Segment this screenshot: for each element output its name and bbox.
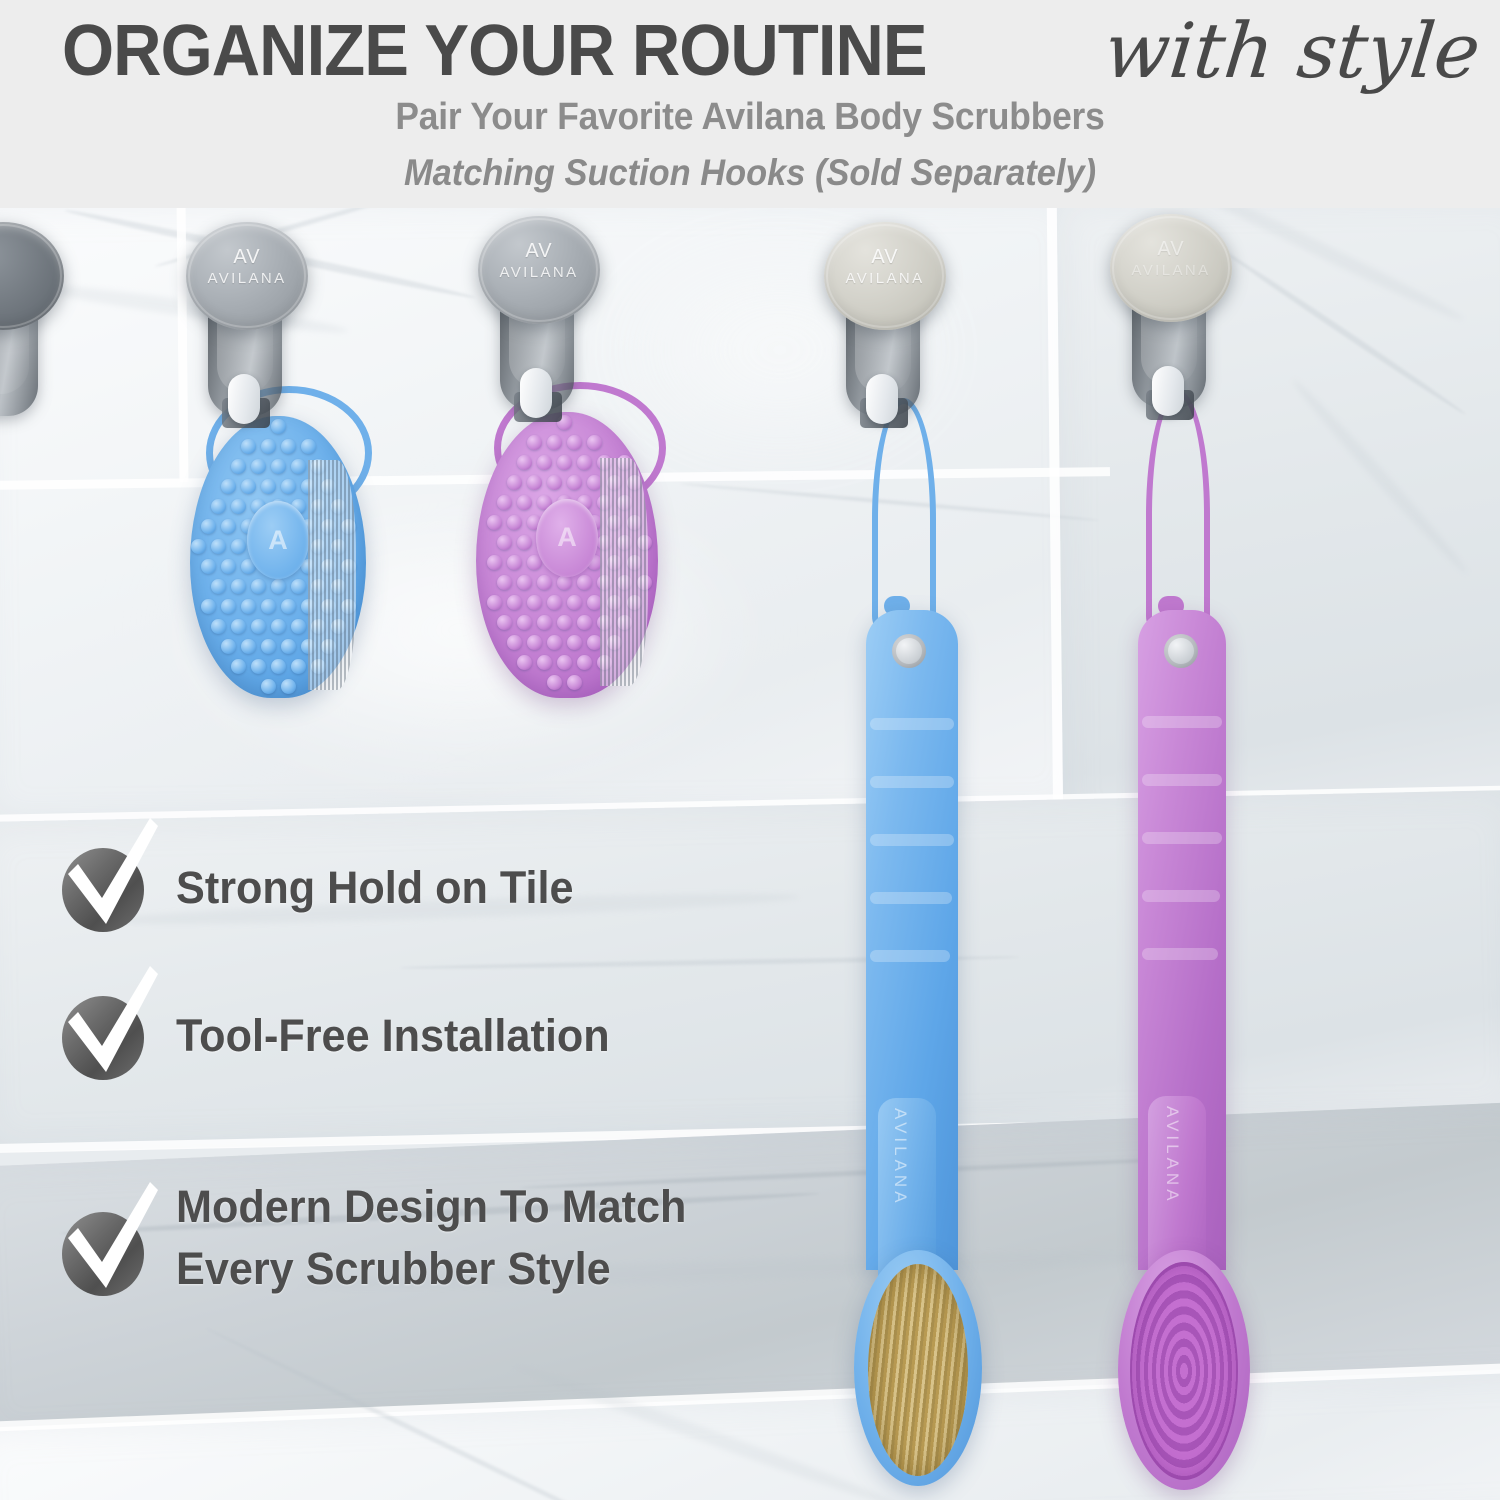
silicone-nub (261, 679, 276, 694)
checkmark-glyph (54, 964, 166, 1084)
hook-cap: AV AVILANA (186, 222, 308, 330)
silicone-nub (291, 659, 306, 674)
check-circle-icon (56, 1204, 152, 1300)
check-circle-icon (56, 988, 152, 1084)
silicone-nub (241, 479, 256, 494)
silicone-nub (261, 599, 276, 614)
pad-bristle-edge (600, 458, 648, 686)
silicone-nub (517, 455, 532, 470)
brush-grommet-hole (892, 634, 926, 668)
silicone-nub (537, 455, 552, 470)
silicone-nub (281, 479, 296, 494)
handle-grip-ridge (1142, 948, 1218, 960)
silicone-nub (507, 635, 522, 650)
silicone-nub (211, 499, 226, 514)
silicone-nub (497, 535, 512, 550)
silicone-nub (547, 675, 562, 690)
silicone-nub (537, 615, 552, 630)
silicone-nub (577, 575, 592, 590)
suction-hook-cream-1: AV AVILANA (824, 222, 946, 452)
silicone-nub (527, 635, 542, 650)
silicone-nub (557, 575, 572, 590)
silicone-nub (231, 459, 246, 474)
handle-grip-ridge (1142, 716, 1222, 728)
avilana-logo-mark: AV (186, 248, 308, 267)
handle-grip-ridge (870, 776, 954, 788)
silicone-nub (281, 639, 296, 654)
feature-line: Tool-Free Installation (176, 1005, 610, 1067)
silicone-nub (231, 619, 246, 634)
handle-grip-ridge (870, 834, 954, 846)
silicone-nub (577, 455, 592, 470)
suction-hook-grey-2: AV AVILANA (478, 216, 600, 446)
feature-text: Modern Design To Match Every Scrubber St… (176, 1176, 708, 1300)
hook-cap: AV AVILANA (824, 222, 946, 330)
silicone-nub (537, 575, 552, 590)
silicone-nub (231, 579, 246, 594)
silicone-nub (567, 595, 582, 610)
silicone-nub (507, 595, 522, 610)
brush-grommet-hole (1164, 634, 1198, 668)
silicone-nub (507, 555, 522, 570)
suction-hook-cream-2: AV AVILANA (1110, 214, 1232, 444)
silicone-nub (527, 475, 542, 490)
pad-logo-badge: A (536, 499, 598, 577)
silicone-bristle-pad (1130, 1262, 1238, 1480)
silicone-nub (291, 459, 306, 474)
avilana-logo-mark: AV (1110, 240, 1232, 259)
blue-long-handle-brush: AVILANA (848, 398, 1038, 1488)
silicone-nub (517, 615, 532, 630)
avilana-wordmark: AVILANA (186, 270, 308, 287)
silicone-nub (271, 579, 286, 594)
silicone-nub (211, 579, 226, 594)
silicone-nub (497, 495, 512, 510)
silicone-nub (497, 615, 512, 630)
silicone-nub (271, 659, 286, 674)
silicone-nub (241, 599, 256, 614)
silicone-nub (221, 599, 236, 614)
check-circle-icon (56, 840, 152, 936)
feature-line: Modern Design To Match (176, 1176, 686, 1238)
silicone-nub (291, 619, 306, 634)
silicone-nub (547, 595, 562, 610)
avilana-wordmark: AVILANA (824, 270, 946, 287)
hook-cap-rim (0, 224, 62, 328)
subtitle-secondary: Matching Suction Hooks (Sold Separately) (53, 152, 1448, 194)
silicone-nub (577, 655, 592, 670)
avilana-logo-mark: AV (824, 248, 946, 267)
silicone-nub (517, 575, 532, 590)
silicone-nub (251, 619, 266, 634)
boar-bristle-pad (868, 1264, 968, 1476)
hook-tab (1152, 366, 1184, 416)
feature-text: Strong Hold on Tile (176, 857, 590, 919)
avilana-wordmark: AVILANA (478, 264, 600, 281)
silicone-nub (221, 479, 236, 494)
silicone-nub (191, 539, 206, 554)
silicone-nub (517, 655, 532, 670)
handle-brand-text: AVILANA (1162, 1106, 1182, 1205)
silicone-nub (201, 519, 216, 534)
handle-grip-ridge (870, 950, 950, 962)
pad-bristle-edge (308, 460, 356, 690)
silicone-nub (281, 679, 296, 694)
silicone-nub (231, 659, 246, 674)
silicone-nub (527, 595, 542, 610)
page-title: ORGANIZE YOUR ROUTINE (62, 14, 927, 88)
silicone-nub (281, 599, 296, 614)
feature-line: Strong Hold on Tile (176, 857, 574, 919)
silicone-nub (537, 655, 552, 670)
silicone-nub (271, 619, 286, 634)
silicone-nub (567, 635, 582, 650)
hook-tab (866, 374, 898, 424)
pad-logo-letter: A (557, 522, 577, 553)
silicone-nub (487, 595, 502, 610)
feature-item-strong-hold: Strong Hold on Tile (56, 840, 590, 936)
checkmark-glyph (54, 816, 166, 936)
hook-tab (520, 368, 552, 418)
silicone-nub (261, 639, 276, 654)
silicone-nub (557, 655, 572, 670)
silicone-nub (241, 639, 256, 654)
silicone-nub (211, 539, 226, 554)
script-accent-text: with style (1100, 6, 1484, 95)
suction-hook-grey-1: AV AVILANA (186, 222, 308, 452)
silicone-nub (517, 535, 532, 550)
silicone-nub (211, 619, 226, 634)
suction-hook-partial-left (0, 222, 64, 452)
avilana-wordmark: AVILANA (1110, 262, 1232, 279)
handle-brand-text: AVILANA (890, 1108, 910, 1207)
pad-logo-badge: A (247, 501, 309, 579)
hook-cap: AV AVILANA (478, 216, 600, 324)
silicone-nub (231, 539, 246, 554)
silicone-nub (271, 459, 286, 474)
silicone-nub (517, 495, 532, 510)
silicone-nub (547, 635, 562, 650)
checkmark-glyph (54, 1180, 166, 1300)
silicone-nub (577, 615, 592, 630)
silicone-nub (221, 639, 236, 654)
feature-item-modern-design: Modern Design To Match Every Scrubber St… (56, 1176, 708, 1300)
feature-item-tool-free: Tool-Free Installation (56, 988, 628, 1084)
silicone-nub (201, 599, 216, 614)
silicone-nub (221, 559, 236, 574)
handle-grip-ridge (1142, 774, 1222, 786)
silicone-nub (567, 475, 582, 490)
silicone-nub (507, 475, 522, 490)
silicone-nub (221, 519, 236, 534)
silicone-nub (497, 575, 512, 590)
silicone-nub (261, 479, 276, 494)
silicone-nub (557, 615, 572, 630)
handle-grip-ridge (870, 718, 954, 730)
handle-grip-ridge (870, 892, 952, 904)
subtitle-primary: Pair Your Favorite Avilana Body Scrubber… (53, 96, 1448, 139)
product-marketing-image: AV AVILANA AV AVILANA AV AVILANA AV (0, 0, 1500, 1500)
hook-cap: AV AVILANA (1110, 214, 1232, 322)
silicone-nub (251, 579, 266, 594)
handle-grip-ridge (1142, 832, 1222, 844)
avilana-logo-mark: AV (478, 242, 600, 261)
silicone-nub (251, 459, 266, 474)
silicone-nub (547, 475, 562, 490)
silicone-nub (251, 659, 266, 674)
silicone-nub (567, 675, 582, 690)
silicone-nub (231, 499, 246, 514)
feature-line: Every Scrubber Style (176, 1238, 686, 1300)
handle-grip-ridge (1142, 890, 1220, 902)
header-banner: ORGANIZE YOUR ROUTINE with style Pair Yo… (0, 0, 1500, 208)
silicone-nub (487, 515, 502, 530)
silicone-nub (291, 579, 306, 594)
feature-text: Tool-Free Installation (176, 1005, 628, 1067)
pad-logo-letter: A (268, 525, 288, 556)
silicone-nub (507, 515, 522, 530)
silicone-nub (487, 555, 502, 570)
purple-long-handle-brush: AVILANA (1112, 390, 1302, 1490)
hook-cap (0, 222, 64, 330)
silicone-nub (557, 455, 572, 470)
silicone-nub (201, 559, 216, 574)
hook-tab (228, 374, 260, 424)
